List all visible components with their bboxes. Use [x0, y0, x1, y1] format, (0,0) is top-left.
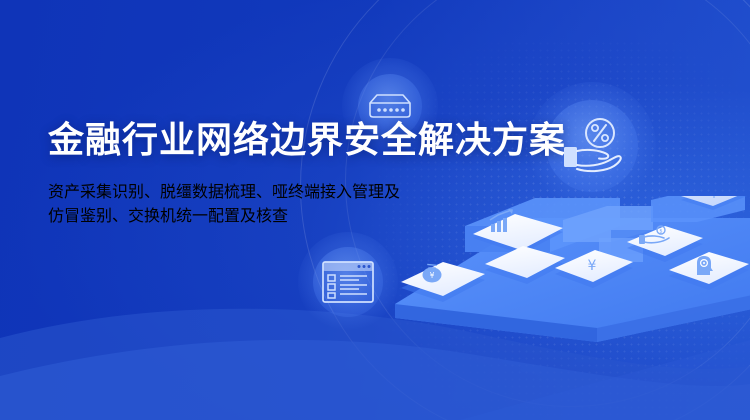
copy-block: 金融行业网络边界安全解决方案 资产采集识别、脱缰数据梳理、哑终端接入管理及 仿冒…	[48, 118, 518, 242]
banner-root: ¥ ¥	[0, 0, 750, 420]
document-checklist-icon	[321, 260, 375, 304]
yen-corner-icon: ¥	[711, 196, 718, 201]
tile-yen: ¥	[555, 250, 633, 288]
network-switch-icon	[367, 91, 413, 121]
hand-money-icon: $	[639, 226, 669, 244]
ai-brain-icon	[697, 256, 713, 275]
subtitle-line-2: 仿冒鉴别、交换机统一配置及核查	[48, 202, 518, 226]
tile-yen-corner: ¥	[681, 196, 747, 210]
platform-block-step	[563, 206, 653, 262]
tile-blank	[485, 246, 565, 284]
money-bag-icon: ¥	[423, 264, 442, 282]
percent-coin-hand-icon	[556, 115, 628, 177]
tile-ai-brain	[669, 252, 749, 290]
page-title: 金融行业网络边界安全解决方案	[48, 118, 518, 164]
subtitle-line-1: 资产采集识别、脱缰数据梳理、哑终端接入管理及	[48, 178, 518, 202]
svg-text:$: $	[659, 229, 662, 235]
yen-currency-icon: ¥	[588, 258, 597, 274]
svg-text:¥: ¥	[430, 271, 435, 280]
bubble-document-checklist	[298, 232, 398, 332]
platform-block-right	[651, 196, 745, 222]
tile-hand-money: $	[627, 226, 703, 262]
tile-money-bag: ¥	[401, 262, 485, 302]
